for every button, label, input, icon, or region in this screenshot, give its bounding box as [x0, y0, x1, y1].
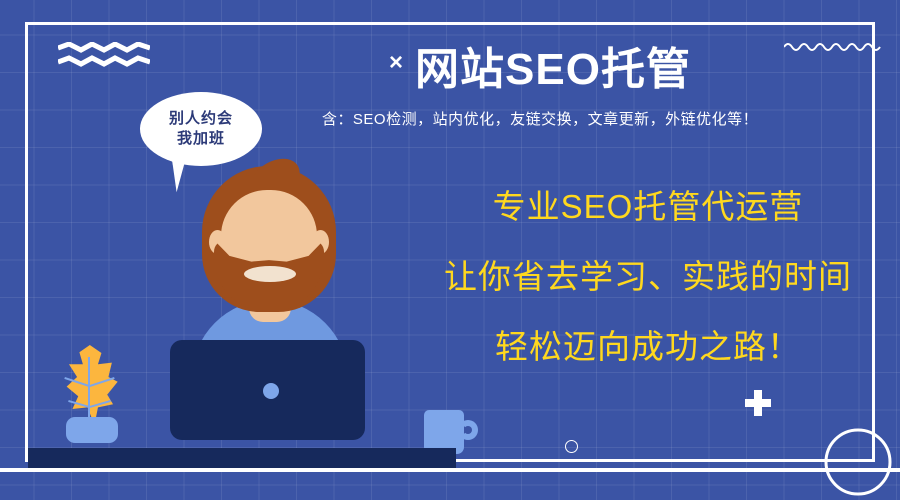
- x-mark-icon: ×: [389, 49, 403, 76]
- title-block: ×网站SEO托管 含：SEO检测，站内优化，友链交换，文章更新，外链优化等！: [300, 46, 780, 129]
- laptop-icon: [170, 340, 365, 440]
- person-mouth: [244, 266, 296, 282]
- circle-outline-icon: [823, 427, 893, 497]
- desk-surface: [28, 448, 456, 470]
- plant-vein: [88, 357, 90, 423]
- speech-bubble: 别人约会 我加班: [140, 92, 262, 166]
- mug-handle: [458, 420, 478, 440]
- slogan-line: 让你省去学习、实践的时间: [418, 260, 878, 293]
- speech-bubble-line: 别人约会: [169, 109, 233, 129]
- plant-pot: [66, 417, 118, 443]
- person-illustration: [176, 160, 362, 360]
- page-subtitle: 含：SEO检测，站内优化，友链交换，文章更新，外链优化等！: [300, 108, 780, 129]
- small-circle-outline-icon: [565, 440, 578, 453]
- potted-plant-icon: [48, 345, 132, 445]
- speech-bubble-line: 我加班: [177, 129, 225, 149]
- laptop-logo-dot: [263, 383, 279, 399]
- plus-mark-icon: [745, 390, 771, 416]
- slogan-line: 专业SEO托管代运营: [418, 190, 878, 223]
- desk-edge-line: [0, 468, 900, 472]
- wave-lines-icon: [58, 42, 150, 68]
- title-text: 网站SEO托管: [415, 45, 691, 94]
- squiggle-line-icon: [784, 40, 882, 54]
- page-title: ×网站SEO托管: [300, 46, 780, 94]
- seo-promo-banner: ×网站SEO托管 含：SEO检测，站内优化，友链交换，文章更新，外链优化等！ 专…: [0, 0, 900, 500]
- slogan-list: 专业SEO托管代运营 让你省去学习、实践的时间 轻松迈向成功之路！: [418, 190, 878, 363]
- slogan-line: 轻松迈向成功之路！: [418, 330, 878, 363]
